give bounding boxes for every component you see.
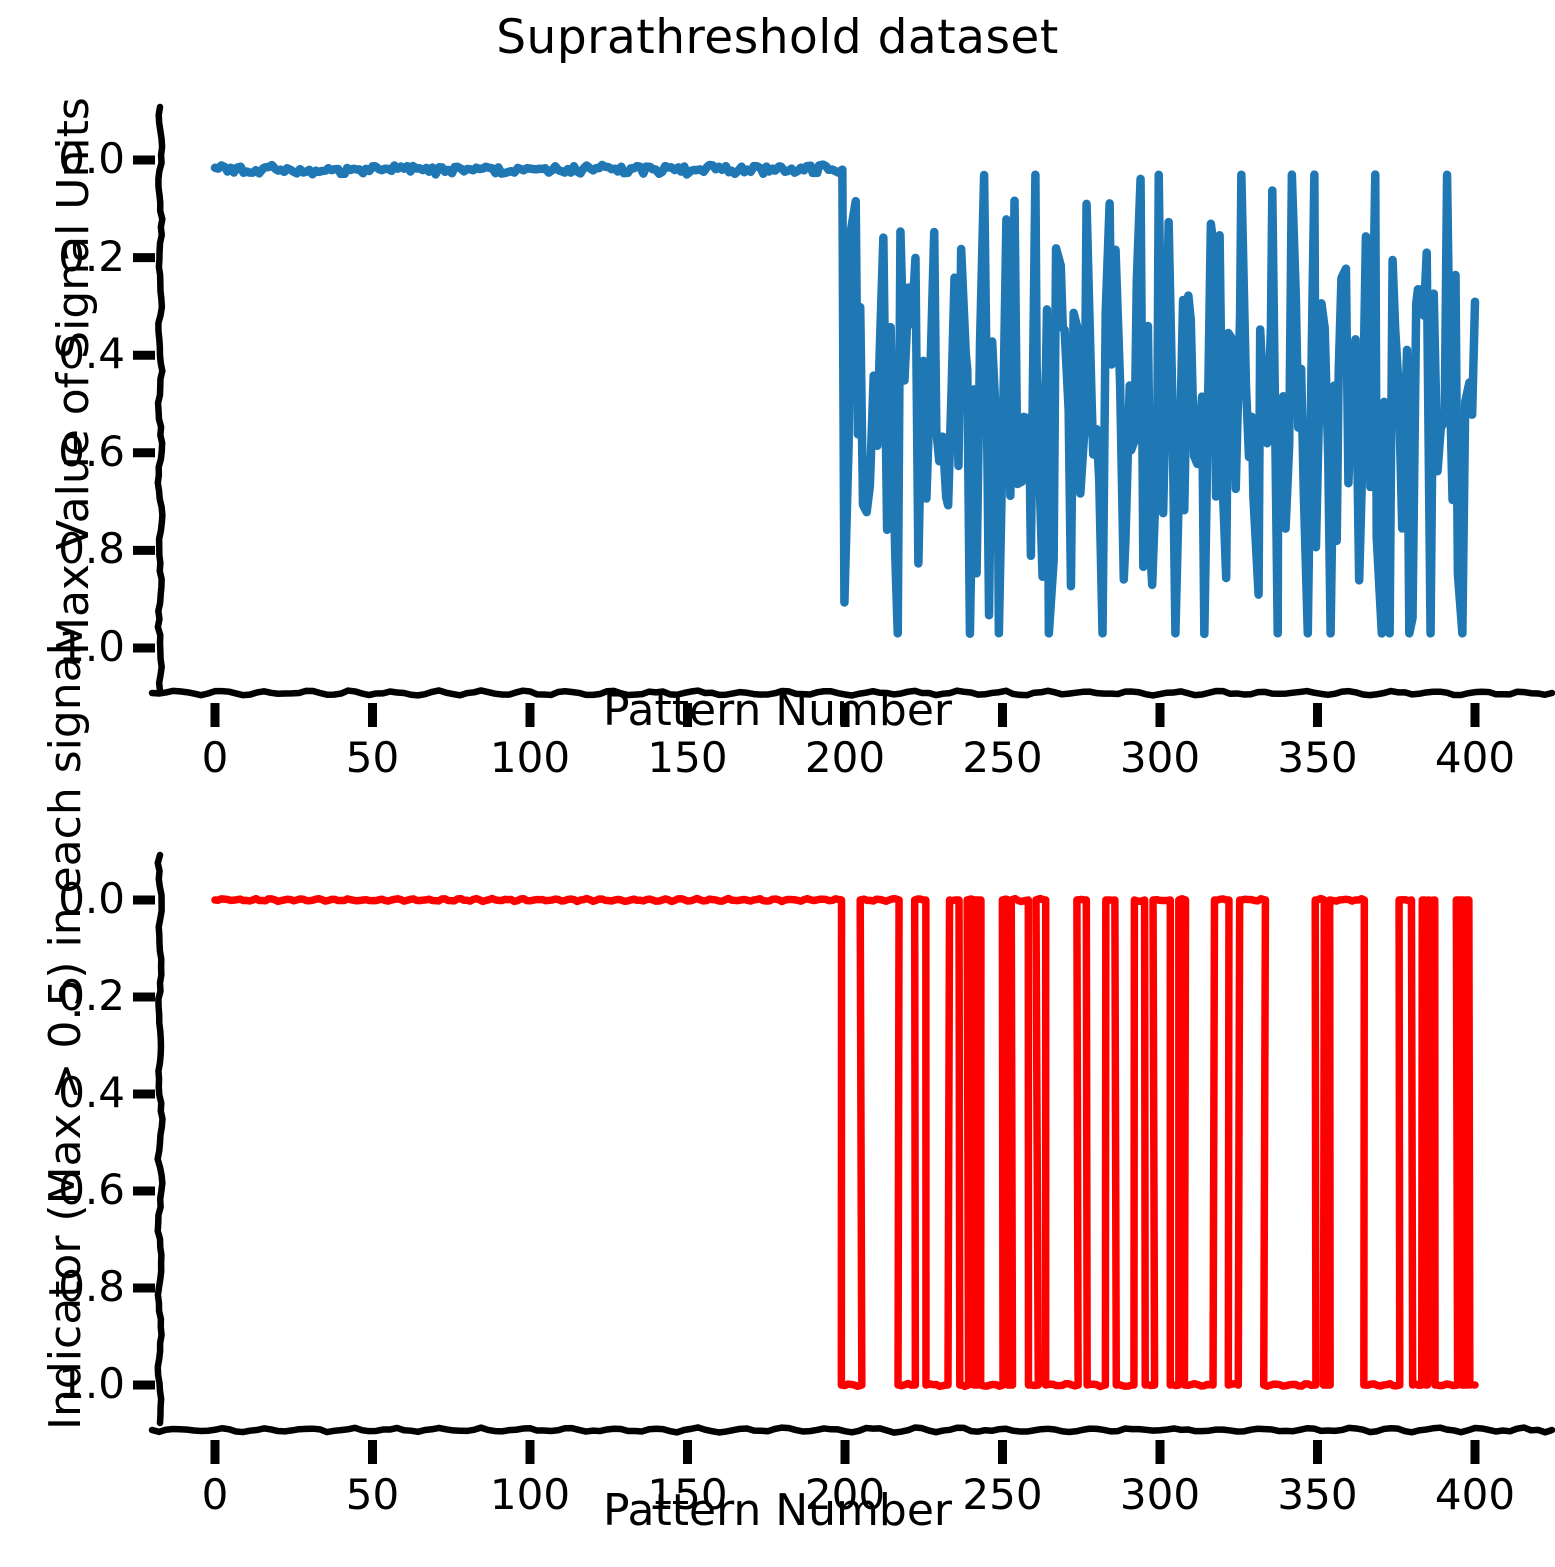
bottom-axis-spines [152,855,1552,1433]
bottom-plot-svg [0,830,1555,1567]
xtick-label: 400 [1405,733,1545,782]
bottom-tick-marks [133,900,1475,1464]
figure-canvas: Suprathreshold dataset 1.00.80.60.40.20.… [0,0,1555,1567]
xtick-label: 100 [460,733,600,782]
top-data-line [215,165,1475,634]
xtick-label: 200 [775,733,915,782]
xtick-label: 300 [1090,733,1230,782]
bottom-yaxis-label: Indicator (Max > 0.5) in each signal [40,643,91,1430]
xtick-label: 250 [933,733,1073,782]
bottom-data-line [215,898,1475,1386]
bottom-xaxis-label: Pattern Number [0,1485,1555,1536]
figure-title: Suprathreshold dataset [0,10,1555,65]
xtick-label: 350 [1248,733,1388,782]
top-subplot: 1.00.80.60.40.20.0 050100150200250300350… [0,95,1555,795]
xtick-label: 50 [303,733,443,782]
xtick-label: 0 [145,733,285,782]
bottom-subplot: 1.00.80.60.40.20.0 050100150200250300350… [0,830,1555,1567]
xtick-label: 150 [618,733,758,782]
top-yaxis-label: Max Value of Signal Units [48,97,99,655]
top-xaxis-label: Pattern Number [0,685,1555,736]
